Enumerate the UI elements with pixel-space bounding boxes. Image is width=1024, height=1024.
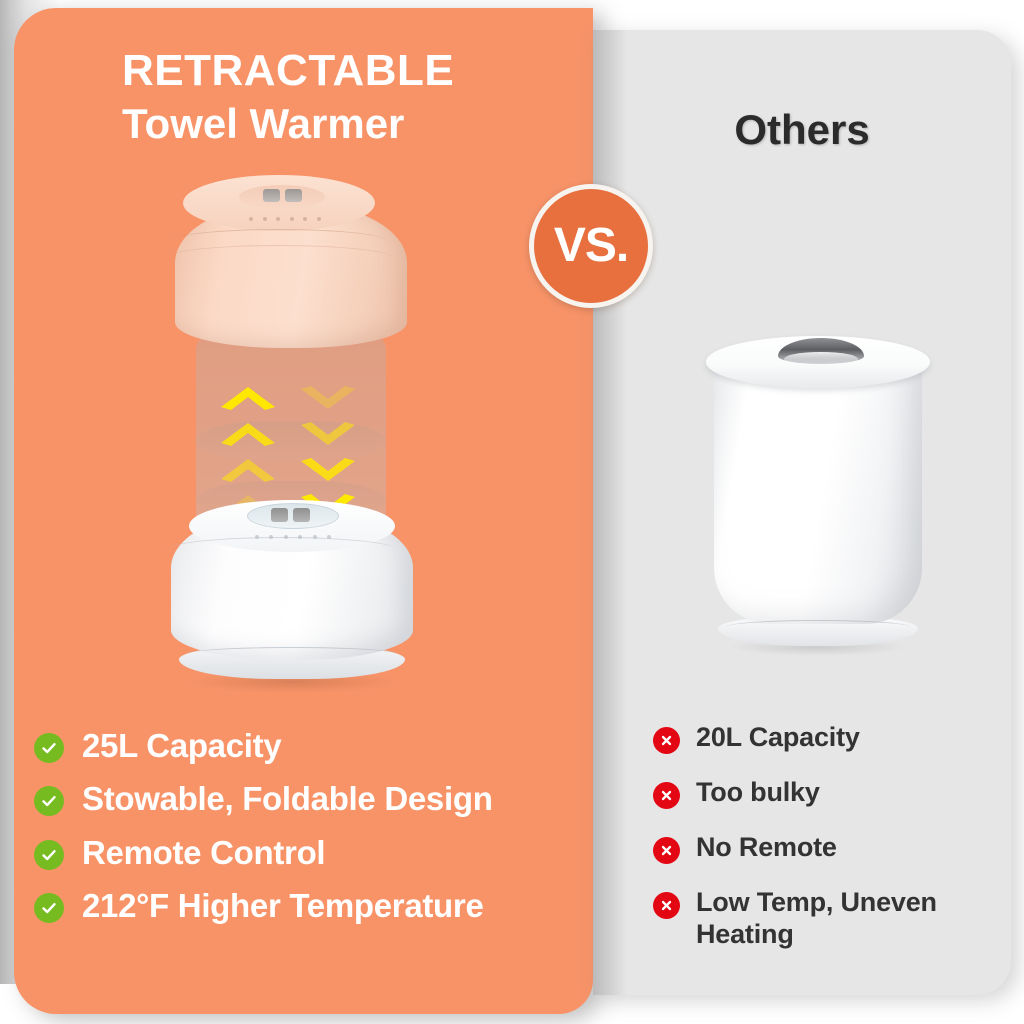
warmer-button-left — [263, 189, 280, 202]
right-feature-list: 20L Capacity Too bulky No Remote Low Tem… — [653, 722, 983, 974]
feature-label: 20L Capacity — [696, 722, 860, 754]
warmer-base-seam — [167, 537, 397, 563]
feature-label: Too bulky — [696, 777, 820, 809]
chevron-down-icon — [299, 421, 357, 447]
left-feature-list: 25L Capacity Stowable, Foldable Design R… — [34, 727, 579, 940]
page-title-primary: RETRACTABLE — [122, 48, 552, 94]
feature-label: 212°F Higher Temperature — [82, 887, 484, 925]
list-item: Remote Control — [34, 834, 579, 872]
feature-label: Remote Control — [82, 834, 325, 872]
vs-badge: VS. — [529, 184, 653, 308]
vs-label: VS. — [554, 218, 628, 273]
bucket-foot-line — [726, 620, 910, 634]
check-icon — [34, 733, 64, 763]
feature-label: Low Temp, Uneven Heating — [696, 887, 983, 951]
warmer-control-panel — [239, 185, 325, 209]
list-item: Too bulky — [653, 777, 983, 809]
list-item: 25L Capacity — [34, 727, 579, 765]
feature-label: Stowable, Foldable Design — [82, 780, 493, 818]
feature-label: No Remote — [696, 832, 837, 864]
warmer-base-button-left — [271, 508, 288, 522]
x-icon — [653, 727, 680, 754]
others-title: Others — [593, 106, 1011, 154]
check-icon — [34, 893, 64, 923]
page-title-secondary: Towel Warmer — [122, 98, 552, 149]
warmer-button-right — [285, 189, 302, 202]
list-item: 20L Capacity — [653, 722, 983, 754]
chevron-down-icon — [299, 457, 357, 483]
bucket-gloss-highlight — [740, 366, 766, 576]
warmer-indicator-dots — [249, 217, 321, 222]
check-icon — [34, 786, 64, 816]
left-product-image — [163, 185, 423, 705]
chevron-up-icon — [219, 457, 277, 483]
x-icon — [653, 837, 680, 864]
list-item: Stowable, Foldable Design — [34, 780, 579, 818]
right-product-image — [706, 330, 930, 650]
list-item: 212°F Higher Temperature — [34, 887, 579, 925]
check-icon — [34, 840, 64, 870]
feature-label: 25L Capacity — [82, 727, 281, 765]
warmer-base-foot-line — [187, 647, 397, 661]
x-icon — [653, 892, 680, 919]
warmer-lid-seam-2 — [165, 245, 393, 271]
left-title-block: RETRACTABLE Towel Warmer — [122, 48, 552, 149]
list-item: No Remote — [653, 832, 983, 864]
chevron-down-icon — [299, 385, 357, 411]
right-panel-inner-shadow — [593, 30, 627, 995]
warmer-base-button-right — [293, 508, 310, 522]
chevron-up-icon — [219, 421, 277, 447]
chevron-up-icon — [219, 385, 277, 411]
x-icon — [653, 782, 680, 809]
list-item: Low Temp, Uneven Heating — [653, 887, 983, 951]
bucket-lid-opening-highlight — [784, 352, 858, 366]
